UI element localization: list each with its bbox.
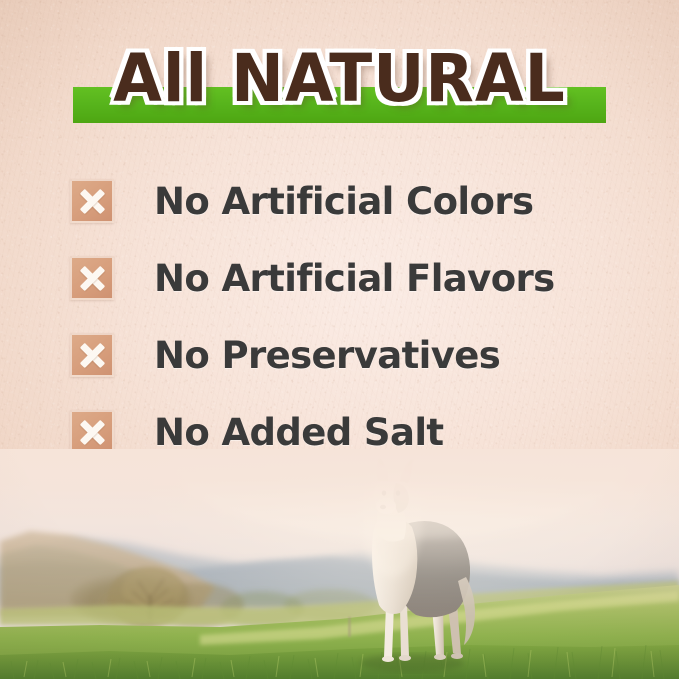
x-mark-icon [70, 410, 114, 454]
headline-green-banner [73, 87, 606, 123]
poster-canvas: All NATURAL No Artificial Colors No Arti… [0, 0, 679, 679]
claim-label: No Preservatives [154, 334, 500, 377]
photo-artwork [0, 449, 679, 679]
dog-field-photo [0, 449, 679, 679]
claims-list: No Artificial Colors No Artificial Flavo… [70, 176, 630, 484]
claim-label: No Added Salt [154, 411, 444, 454]
list-item: No Artificial Flavors [70, 253, 630, 303]
x-mark-icon [70, 179, 114, 223]
list-item: No Artificial Colors [70, 176, 630, 226]
x-mark-icon [70, 256, 114, 300]
claim-label: No Artificial Colors [154, 180, 533, 223]
list-item: No Preservatives [70, 330, 630, 380]
claim-label: No Artificial Flavors [154, 257, 555, 300]
x-mark-icon [70, 333, 114, 377]
